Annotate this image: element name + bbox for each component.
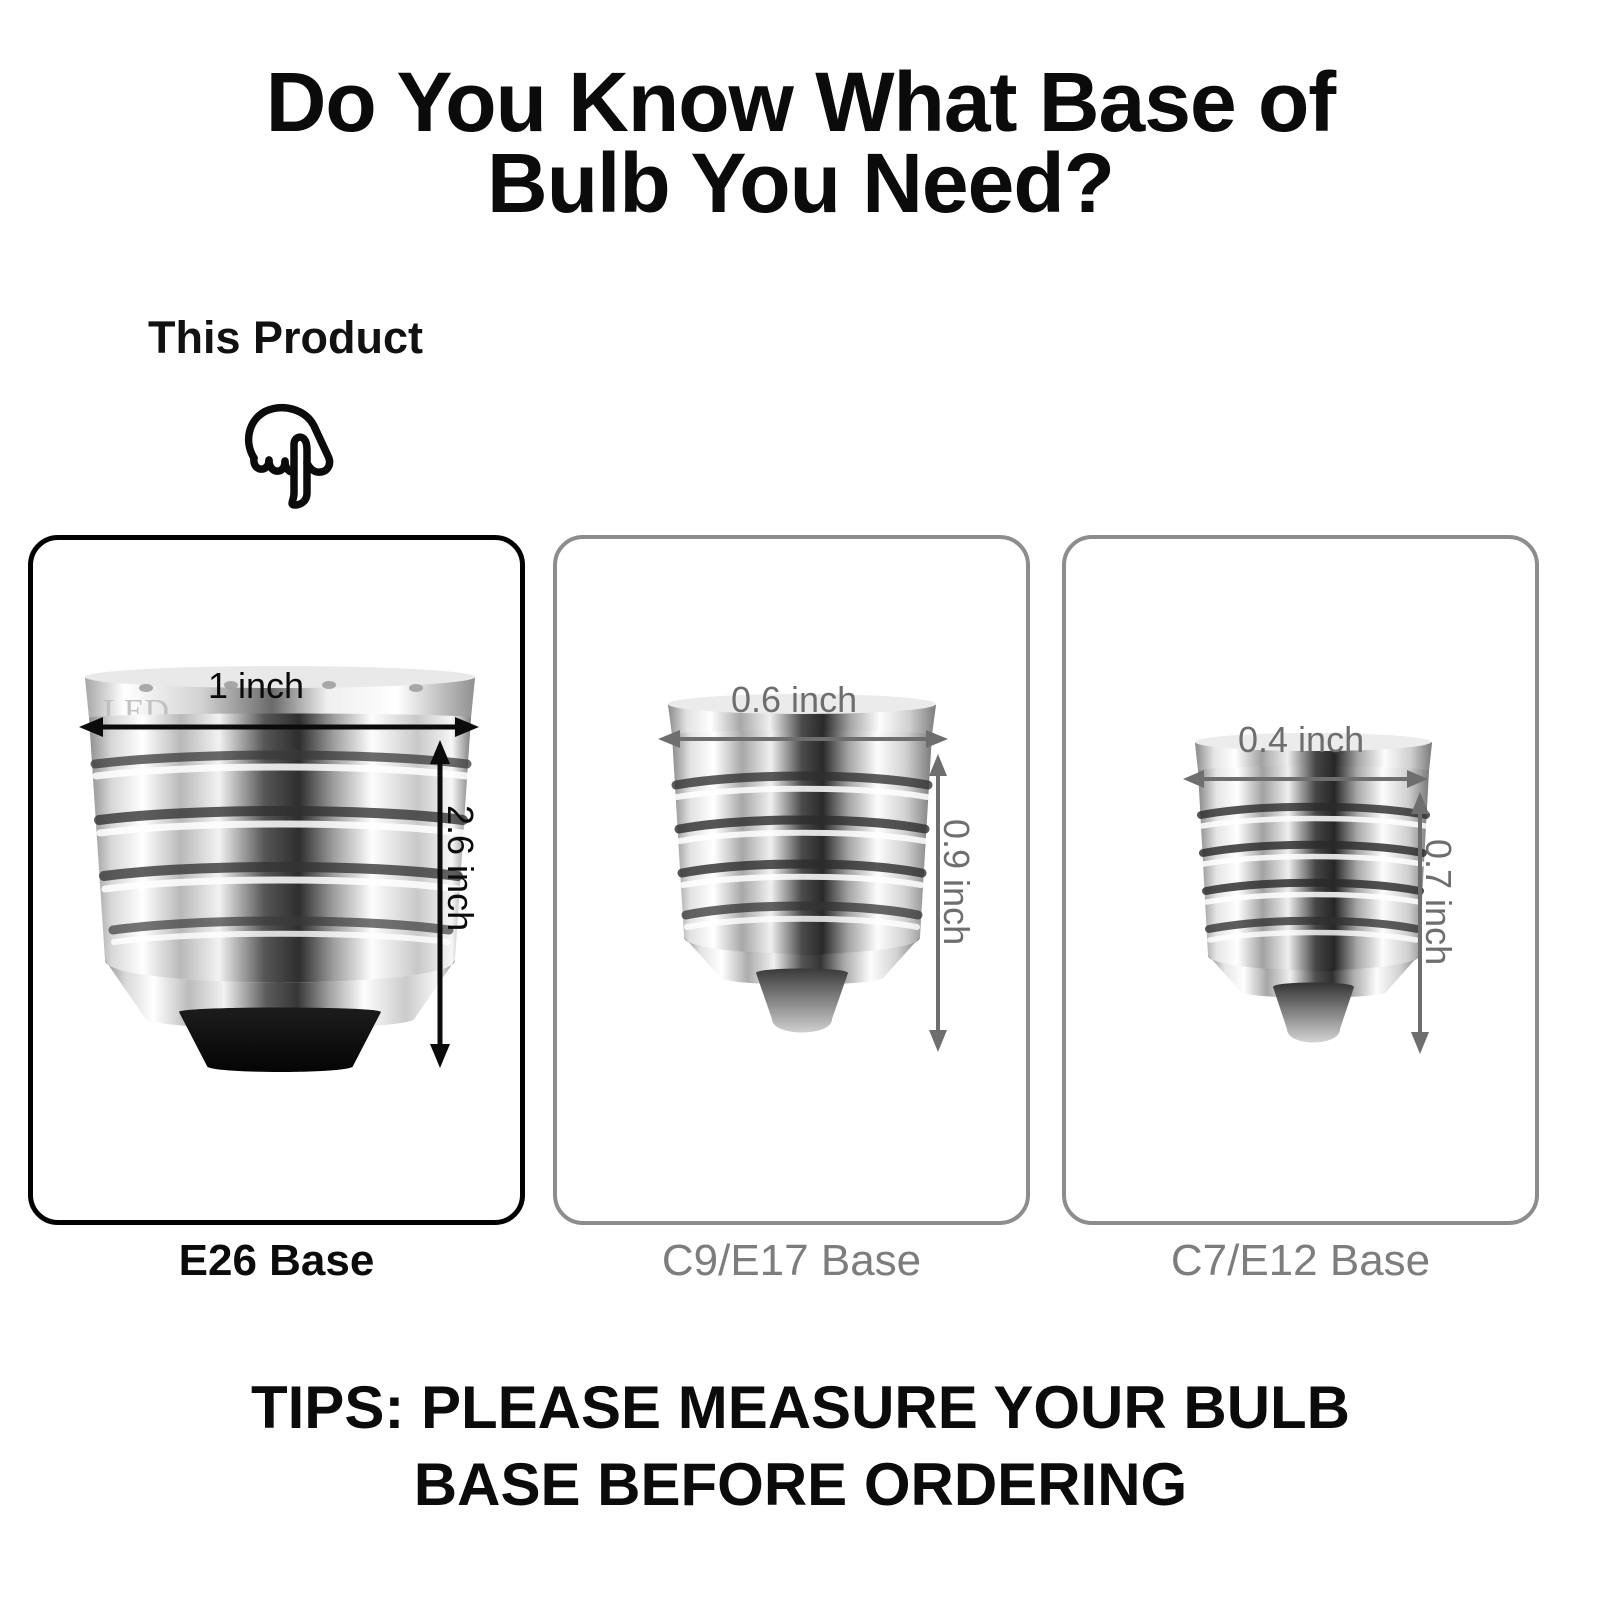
- card-c9-e17[interactable]: 0.6 inch 0.9 inch: [553, 535, 1030, 1225]
- width-dimension-label-e17: 0.6 inch: [731, 679, 857, 721]
- width-dimension-arrow-e26: [79, 714, 479, 740]
- page-title: Do You Know What Base of Bulb You Need?: [0, 62, 1601, 225]
- base-comparison-cards: LED: [0, 535, 1601, 1225]
- page-title-line-2: Bulb You Need?: [0, 143, 1601, 224]
- width-dimension-label-e12: 0.4 inch: [1238, 719, 1364, 761]
- height-dimension-label-e17: 0.9 inch: [935, 819, 977, 945]
- width-dimension-label-e26: 1 inch: [208, 665, 304, 707]
- width-dimension-arrow-e17: [658, 727, 948, 751]
- hand-pointing-down-icon: [232, 398, 342, 510]
- tips-line-2: BASE BEFORE ORDERING: [0, 1447, 1601, 1524]
- this-product-label: This Product: [148, 312, 423, 364]
- card-e26[interactable]: LED: [28, 535, 525, 1225]
- card-label-e26: E26 Base: [28, 1237, 525, 1285]
- height-dimension-label-e26: 2.6 inch: [439, 805, 481, 931]
- card-c7-e12[interactable]: 0.4 inch 0.7 inch: [1062, 535, 1539, 1225]
- tips-text: TIPS: PLEASE MEASURE YOUR BULB BASE BEFO…: [0, 1370, 1601, 1524]
- width-dimension-arrow-e12: [1183, 767, 1428, 791]
- tips-line-1: TIPS: PLEASE MEASURE YOUR BULB: [0, 1370, 1601, 1447]
- card-label-c7-e12: C7/E12 Base: [1062, 1237, 1539, 1285]
- height-dimension-label-e12: 0.7 inch: [1417, 839, 1459, 965]
- page-title-line-1: Do You Know What Base of: [0, 62, 1601, 143]
- card-label-c9-e17: C9/E17 Base: [553, 1237, 1030, 1285]
